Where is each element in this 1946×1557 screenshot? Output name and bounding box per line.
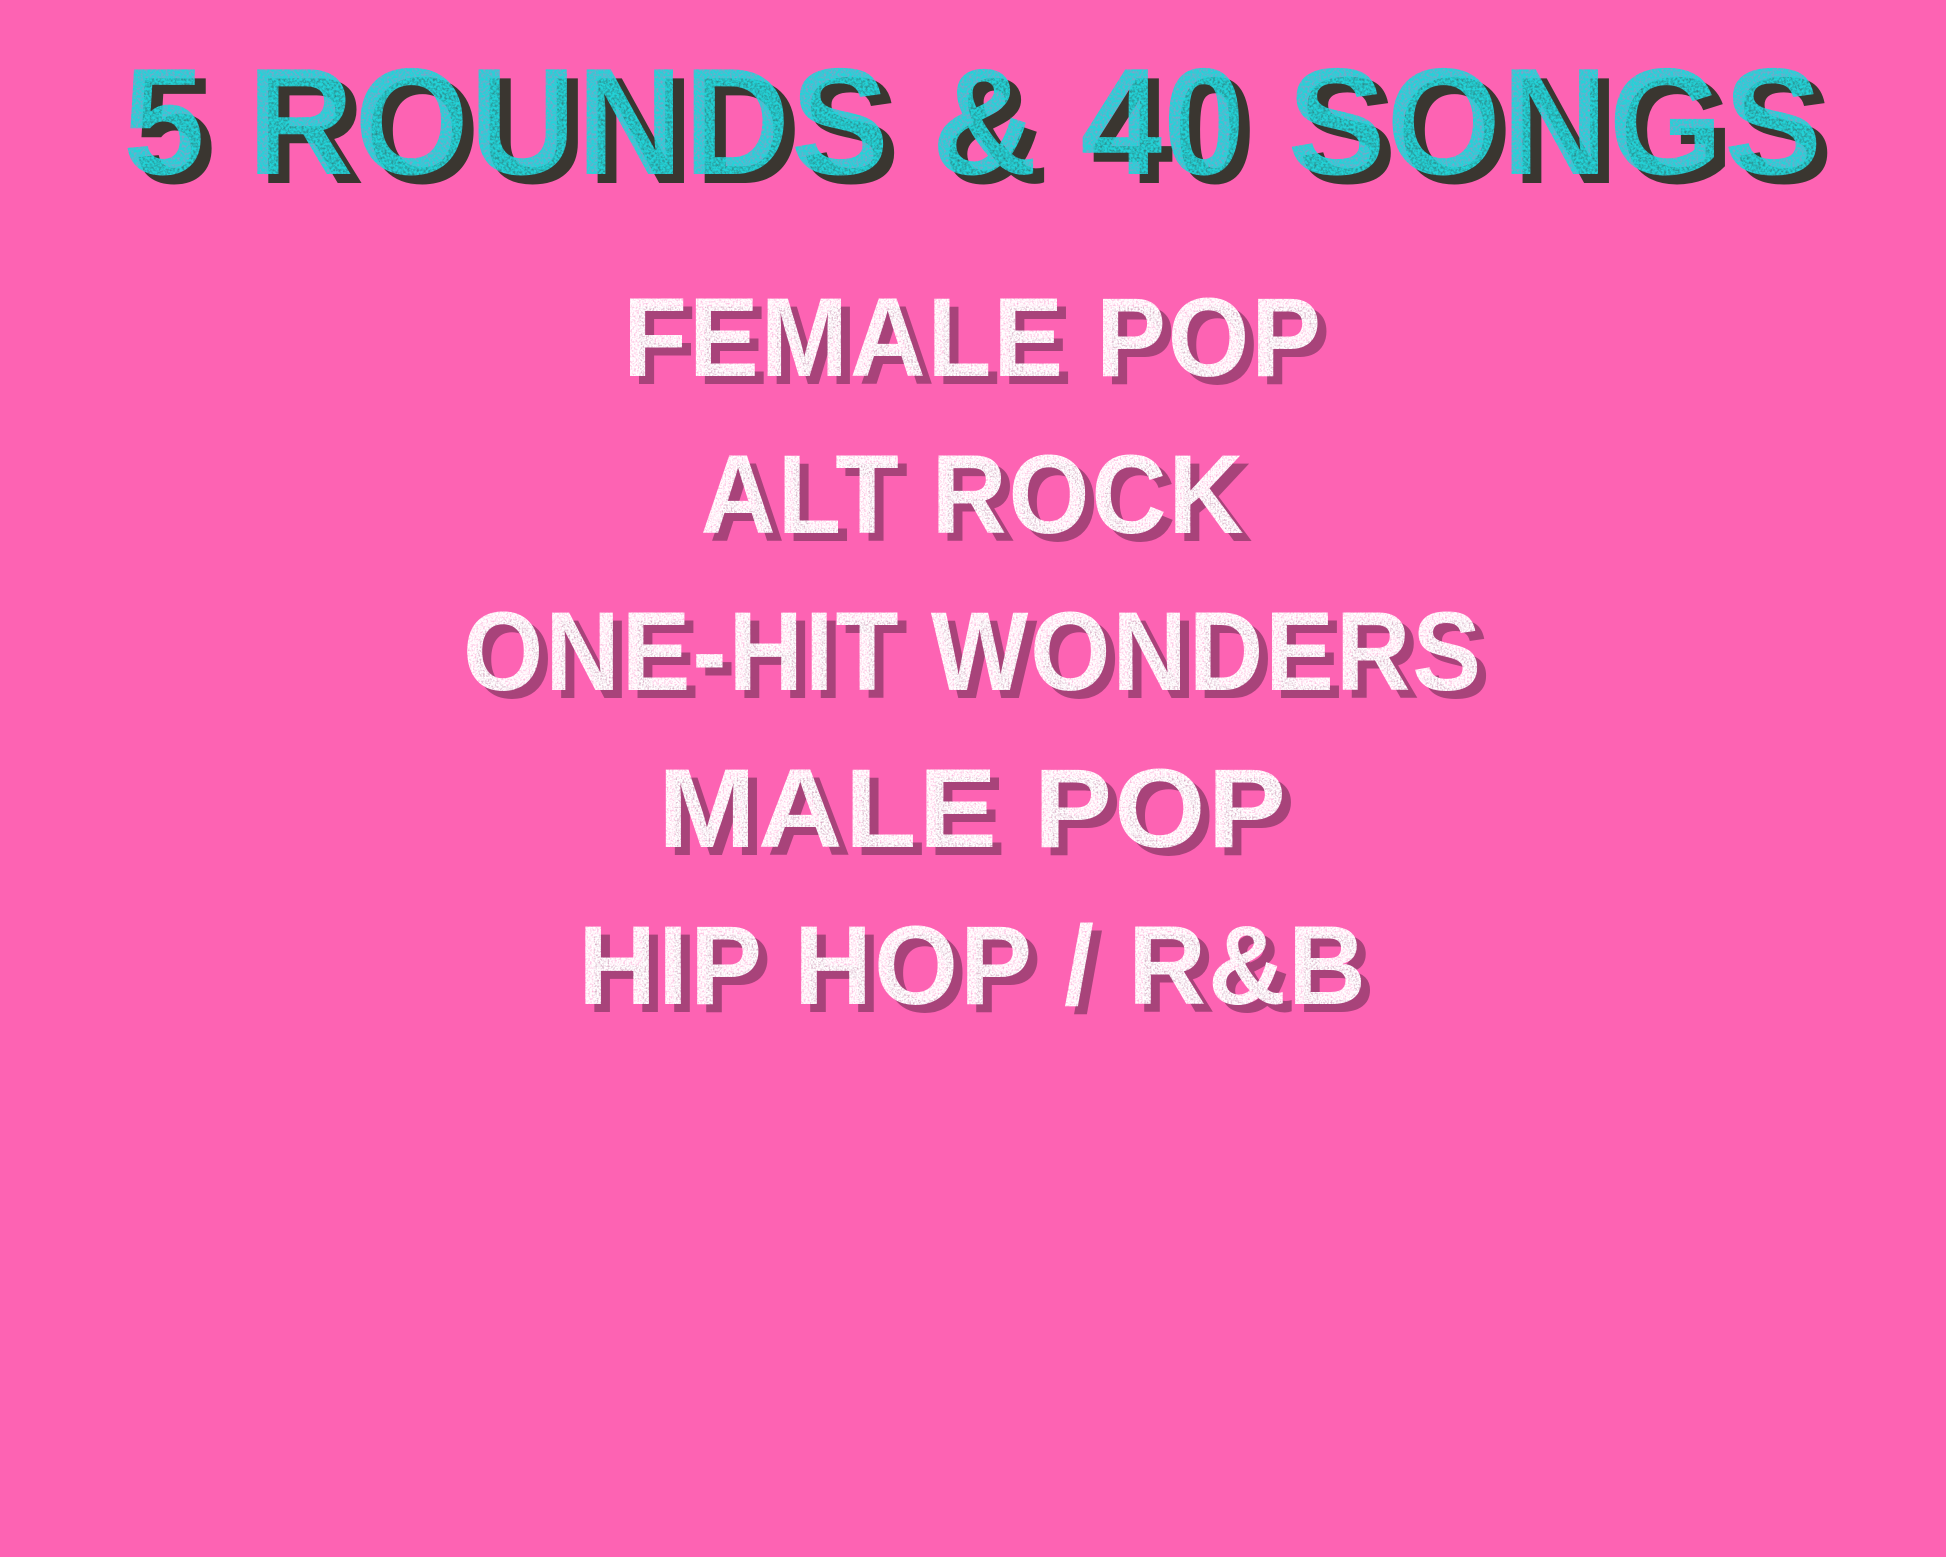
- round-label-artwork: ALT ROCK ALT ROCK: [273, 433, 1673, 563]
- round-label-artwork: ONE-HIT WONDERS ONE-HIT WONDERS: [273, 590, 1673, 720]
- round-label-text: ONE-HIT WONDERS: [463, 588, 1483, 714]
- round-label-text: ALT ROCK: [701, 431, 1246, 556]
- round-label-artwork: HIP HOP / R&B HIP HOP / R&B: [273, 904, 1673, 1034]
- round-label-artwork: FEMALE POP FEMALE POP: [273, 276, 1673, 406]
- poster-heading: 5 ROUNDS & 40 SONGS 5 ROUNDS & 40 SONGS: [0, 36, 1946, 206]
- heading-text: 5 ROUNDS & 40 SONGS: [123, 37, 1823, 206]
- poster-canvas: 5 ROUNDS & 40 SONGS 5 ROUNDS & 40 SONGS …: [0, 0, 1946, 1557]
- round-list: FEMALE POP FEMALE POP ALT ROCK ALT ROCK …: [0, 262, 1946, 1047]
- round-label-artwork: MALE POP MALE POP: [273, 747, 1673, 877]
- heading-artwork: 5 ROUNDS & 40 SONGS 5 ROUNDS & 40 SONGS: [93, 36, 1853, 206]
- round-item-alt-rock: ALT ROCK ALT ROCK: [0, 419, 1946, 576]
- round-label-text: HIP HOP / R&B: [578, 903, 1368, 1028]
- round-item-one-hit-wonders: ONE-HIT WONDERS ONE-HIT WONDERS: [0, 576, 1946, 733]
- round-item-male-pop: MALE POP MALE POP: [0, 733, 1946, 890]
- round-item-female-pop: FEMALE POP FEMALE POP: [0, 262, 1946, 419]
- round-item-hip-hop-rnb: HIP HOP / R&B HIP HOP / R&B: [0, 890, 1946, 1047]
- round-label-text: FEMALE POP: [623, 274, 1323, 399]
- round-label-text: MALE POP: [658, 746, 1288, 871]
